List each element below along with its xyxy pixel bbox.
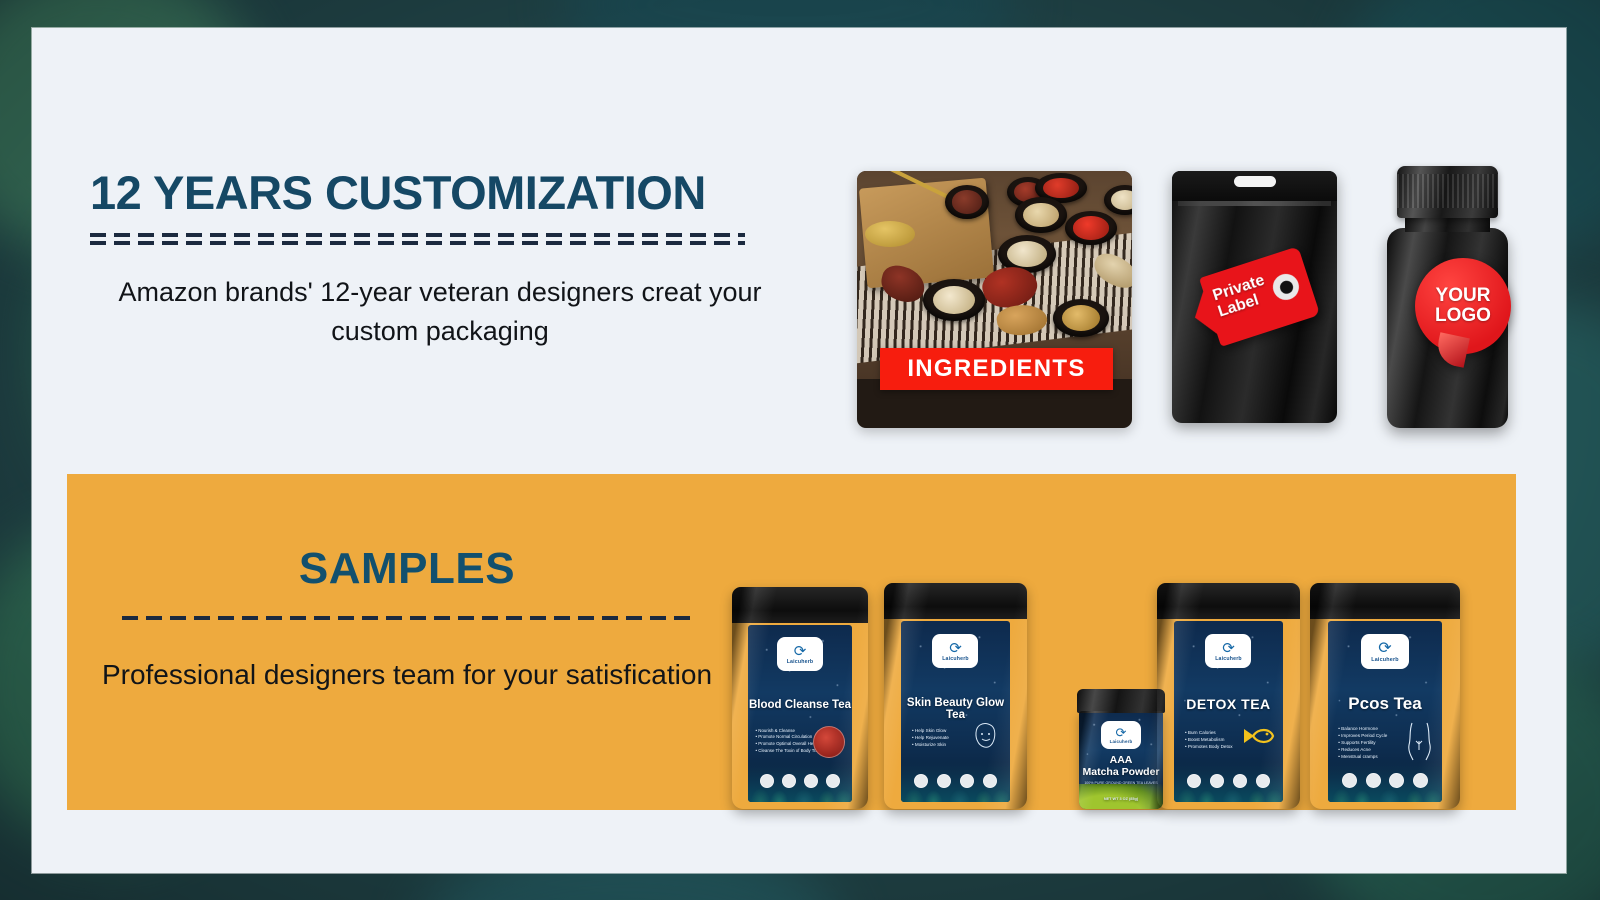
certification-icons <box>1337 773 1433 788</box>
ingredients-card: INGREDIENTS <box>857 171 1132 428</box>
pouch-zipper <box>1178 201 1331 206</box>
pouch-label-face: ⟳ Laicuherb DETOX TEA • Burn Calories • … <box>1174 621 1283 802</box>
pouch-label-face: ⟳ Laicuherb Skin Beauty Glow Tea • Help … <box>901 621 1010 802</box>
headline-block: 12 YEARS CUSTOMIZATION Amazon brands' 12… <box>90 168 790 350</box>
herb-bowl <box>945 185 989 219</box>
supplement-bottle: YOUR LOGO <box>1385 166 1510 428</box>
top-section: 12 YEARS CUSTOMIZATION Amazon brands' 12… <box>32 28 1566 474</box>
poster-canvas: 12 YEARS CUSTOMIZATION Amazon brands' 12… <box>0 0 1600 900</box>
product-jar-aaa-matcha-powder: ⟳ Laicuherb AAA Matcha Powder 100% PURE … <box>1077 689 1165 809</box>
ingredients-banner-label: INGREDIENTS <box>907 355 1085 383</box>
bullet-item: • Reduces Acne <box>1338 747 1387 754</box>
brand-name: Laicuherb <box>1215 656 1242 662</box>
jar-body: ⟳ Laicuherb AAA Matcha Powder 100% PURE … <box>1079 711 1163 809</box>
samples-dashed-divider <box>122 616 692 620</box>
cert-icon-3 <box>804 774 818 788</box>
product-pouch-skin-beauty-glow-tea: ⟳ Laicuherb Skin Beauty Glow Tea • Help … <box>884 583 1027 809</box>
female-body-line-graphic <box>1404 721 1434 761</box>
cert-icon-3 <box>1389 773 1404 788</box>
product-bullets: • Help Skin Glow • Help Rejuvenate • Moi… <box>912 728 949 749</box>
cert-icon-1 <box>1187 774 1201 788</box>
herb-bowl <box>1053 299 1109 337</box>
cert-icon-3 <box>960 774 974 788</box>
pouch-label-face: ⟳ Laicuherb Blood Cleanse Tea • Nourish … <box>748 625 851 803</box>
herb-bowl <box>1015 197 1067 233</box>
jar-title-line1: AAA <box>1079 754 1163 766</box>
product-pouch-blood-cleanse-tea: ⟳ Laicuherb Blood Cleanse Tea • Nourish … <box>732 587 868 809</box>
product-bullets: • Balance Hormone • Improves Period Cycl… <box>1338 726 1387 761</box>
jar-subtitle: 100% PURE GROUND GREEN TEA LEAVES <box>1079 781 1163 785</box>
your-logo-line1: YOUR <box>1436 286 1491 306</box>
cert-icon-2 <box>937 774 951 788</box>
bullet-item: • Menstrual cramps <box>1338 754 1387 761</box>
bullet-item: • Supports Fertility <box>1338 740 1387 747</box>
laicuherb-swirl-icon: ⟳ <box>794 644 807 659</box>
herb-bowl <box>1104 185 1132 215</box>
laicuherb-swirl-icon: ⟳ <box>1378 641 1391 657</box>
jar-net-weight: NET WT 3 OZ (85g) <box>1079 797 1163 801</box>
laicuherb-swirl-icon: ⟳ <box>1222 641 1235 656</box>
brand-badge: ⟳ Laicuherb <box>1101 721 1141 749</box>
bullet-item: • Help Rejuvenate <box>912 735 949 742</box>
cert-icon-3 <box>1233 774 1247 788</box>
certification-icons <box>910 774 1001 788</box>
certification-icons <box>757 774 844 788</box>
cert-icon-4 <box>826 774 840 788</box>
product-bullets: • Burn Calories • Boost Metabolism • Pro… <box>1185 730 1233 751</box>
bullet-item: • Promotes Body Detox <box>1185 744 1233 751</box>
cert-icon-1 <box>914 774 928 788</box>
jar-title-line2: Matcha Powder <box>1079 766 1163 778</box>
bullet-item: • Boost Metabolism <box>1185 737 1233 744</box>
samples-text-block: SAMPLES Professional designers team for … <box>87 544 727 696</box>
brand-badge: ⟳ Laicuherb <box>777 637 823 671</box>
bullet-item: • Improves Period Cycle <box>1338 733 1387 740</box>
cert-icon-4 <box>1256 774 1270 788</box>
cert-icon-2 <box>1366 773 1381 788</box>
pouch-label-face: ⟳ Laicuherb Pcos Tea • Balance Hormone •… <box>1328 621 1442 802</box>
brand-badge: ⟳ Laicuherb <box>1361 634 1409 669</box>
private-label-pouch: Private Label <box>1172 171 1337 423</box>
brand-name: Laicuherb <box>1371 657 1399 663</box>
product-title: DETOX TEA <box>1174 696 1283 712</box>
sample-products-row: ⟳ Laicuherb Blood Cleanse Tea • Nourish … <box>732 579 1492 809</box>
bottle-cap <box>1397 166 1498 218</box>
page-title: 12 YEARS CUSTOMIZATION <box>90 168 790 217</box>
brass-scale-pan <box>865 221 915 247</box>
samples-subcopy: Professional designers team for your sat… <box>87 654 727 696</box>
product-title: Blood Cleanse Tea <box>748 699 851 711</box>
face-line-graphic <box>969 719 1003 753</box>
yellow-fish-graphic <box>1240 723 1276 749</box>
brand-name: Laicuherb <box>787 659 814 665</box>
product-pouch-pcos-tea: ⟳ Laicuherb Pcos Tea • Balance Hormone •… <box>1310 583 1460 809</box>
brand-name: Laicuherb <box>942 656 969 662</box>
samples-section: SAMPLES Professional designers team for … <box>67 474 1516 810</box>
cert-icon-2 <box>1210 774 1224 788</box>
headline-dashed-divider <box>90 233 745 245</box>
laicuherb-swirl-icon: ⟳ <box>949 641 962 656</box>
ingredients-banner: INGREDIENTS <box>880 348 1113 390</box>
herb-bowl <box>1065 211 1117 245</box>
samples-title: SAMPLES <box>87 544 727 594</box>
product-title: Pcos Tea <box>1328 694 1442 714</box>
content-card: 12 YEARS CUSTOMIZATION Amazon brands' 12… <box>32 28 1566 873</box>
cert-icon-4 <box>1413 773 1428 788</box>
headline-subcopy: Amazon brands' 12-year veteran designers… <box>90 273 790 350</box>
cert-icon-2 <box>782 774 796 788</box>
laicuherb-swirl-icon: ⟳ <box>1116 726 1127 739</box>
bullet-item: • Burn Calories <box>1185 730 1233 737</box>
brand-badge: ⟳ Laicuherb <box>1205 634 1251 668</box>
product-title: Skin Beauty Glow Tea <box>901 697 1010 721</box>
bullet-item: • Moisturize Skin <box>912 742 949 749</box>
logo-sticker: YOUR LOGO <box>1415 258 1511 354</box>
cert-icon-4 <box>983 774 997 788</box>
bullet-item: • Balance Hormone <box>1338 726 1387 733</box>
cert-icon-1 <box>1342 773 1357 788</box>
cert-icon-1 <box>760 774 774 788</box>
bullet-item: • Help Skin Glow <box>912 728 949 735</box>
herb-bowl <box>923 279 985 321</box>
certification-icons <box>1183 774 1274 788</box>
brand-name: Laicuherb <box>1110 739 1133 744</box>
brand-badge: ⟳ Laicuherb <box>932 634 978 668</box>
jar-lid <box>1077 689 1165 713</box>
your-logo-line2: LOGO <box>1435 306 1491 326</box>
pouch-hang-hole <box>1234 176 1276 187</box>
product-pouch-detox-tea: ⟳ Laicuherb DETOX TEA • Burn Calories • … <box>1157 583 1300 809</box>
